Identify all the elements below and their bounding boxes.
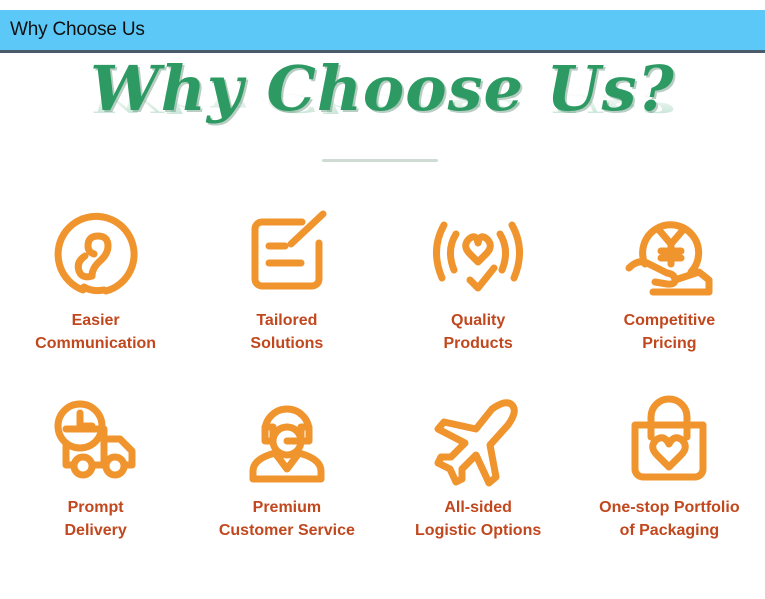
hero-heading-reflection: Why Choose Us? [90, 90, 675, 116]
heart-signal-check-icon [383, 198, 574, 310]
feature-label-line2: Logistic Options [387, 520, 570, 543]
document-pencil-icon [191, 198, 382, 310]
features-grid: Easier Communication Tailored Solutions [0, 198, 765, 543]
feature-label-quality-products: Quality Products [383, 310, 574, 355]
feature-label-line1: One-stop Portfolio [599, 499, 739, 516]
hero-section: Why Choose Us? Why Choose Us? [0, 58, 765, 166]
feature-label-competitive-pricing: Competitive Pricing [574, 310, 765, 355]
delivery-truck-clock-icon [0, 385, 191, 497]
feature-label-prompt-delivery: Prompt Delivery [0, 497, 191, 542]
feature-label-line1: All-sided [444, 499, 512, 516]
feature-item-competitive-pricing: Competitive Pricing [574, 198, 765, 355]
feature-item-premium-customer-service: Premium Customer Service [191, 385, 382, 542]
feature-label-line2: Delivery [4, 520, 187, 543]
hero-divider [322, 159, 438, 162]
feature-label-premium-customer-service: Premium Customer Service [191, 497, 382, 542]
feature-item-tailored-solutions: Tailored Solutions [191, 198, 382, 355]
feature-label-line2: Pricing [578, 333, 761, 356]
hand-yen-coin-icon [574, 198, 765, 310]
why-choose-us-page: Why Choose Us Why Choose Us? Why Choose … [0, 0, 765, 599]
ear-listening-icon [0, 198, 191, 310]
feature-item-quality-products: Quality Products [383, 198, 574, 355]
feature-label-line1: Quality [451, 312, 505, 329]
feature-label-tailored-solutions: Tailored Solutions [191, 310, 382, 355]
feature-label-line1: Competitive [624, 312, 716, 329]
headset-agent-icon [191, 385, 382, 497]
feature-label-line2: Products [387, 333, 570, 356]
feature-item-one-stop-portfolio: One-stop Portfolio of Packaging [574, 385, 765, 542]
feature-item-easier-communication: Easier Communication [0, 198, 191, 355]
feature-label-line1: Premium [253, 499, 321, 516]
feature-label-line1: Easier [72, 312, 120, 329]
feature-label-all-sided-logistic-options: All-sided Logistic Options [383, 497, 574, 542]
airplane-icon [383, 385, 574, 497]
feature-label-line1: Prompt [68, 499, 124, 516]
feature-label-line2: Customer Service [195, 520, 378, 543]
feature-label-line1: Tailored [256, 312, 317, 329]
shopping-bag-heart-icon [574, 385, 765, 497]
window-title: Why Choose Us [10, 19, 145, 41]
window-titlebar: Why Choose Us [0, 10, 765, 53]
feature-label-easier-communication: Easier Communication [0, 310, 191, 355]
feature-item-prompt-delivery: Prompt Delivery [0, 385, 191, 542]
feature-label-line2: of Packaging [578, 520, 761, 543]
feature-label-one-stop-portfolio: One-stop Portfolio of Packaging [574, 497, 765, 542]
feature-item-all-sided-logistic-options: All-sided Logistic Options [383, 385, 574, 542]
feature-label-line2: Communication [4, 333, 187, 356]
feature-label-line2: Solutions [195, 333, 378, 356]
